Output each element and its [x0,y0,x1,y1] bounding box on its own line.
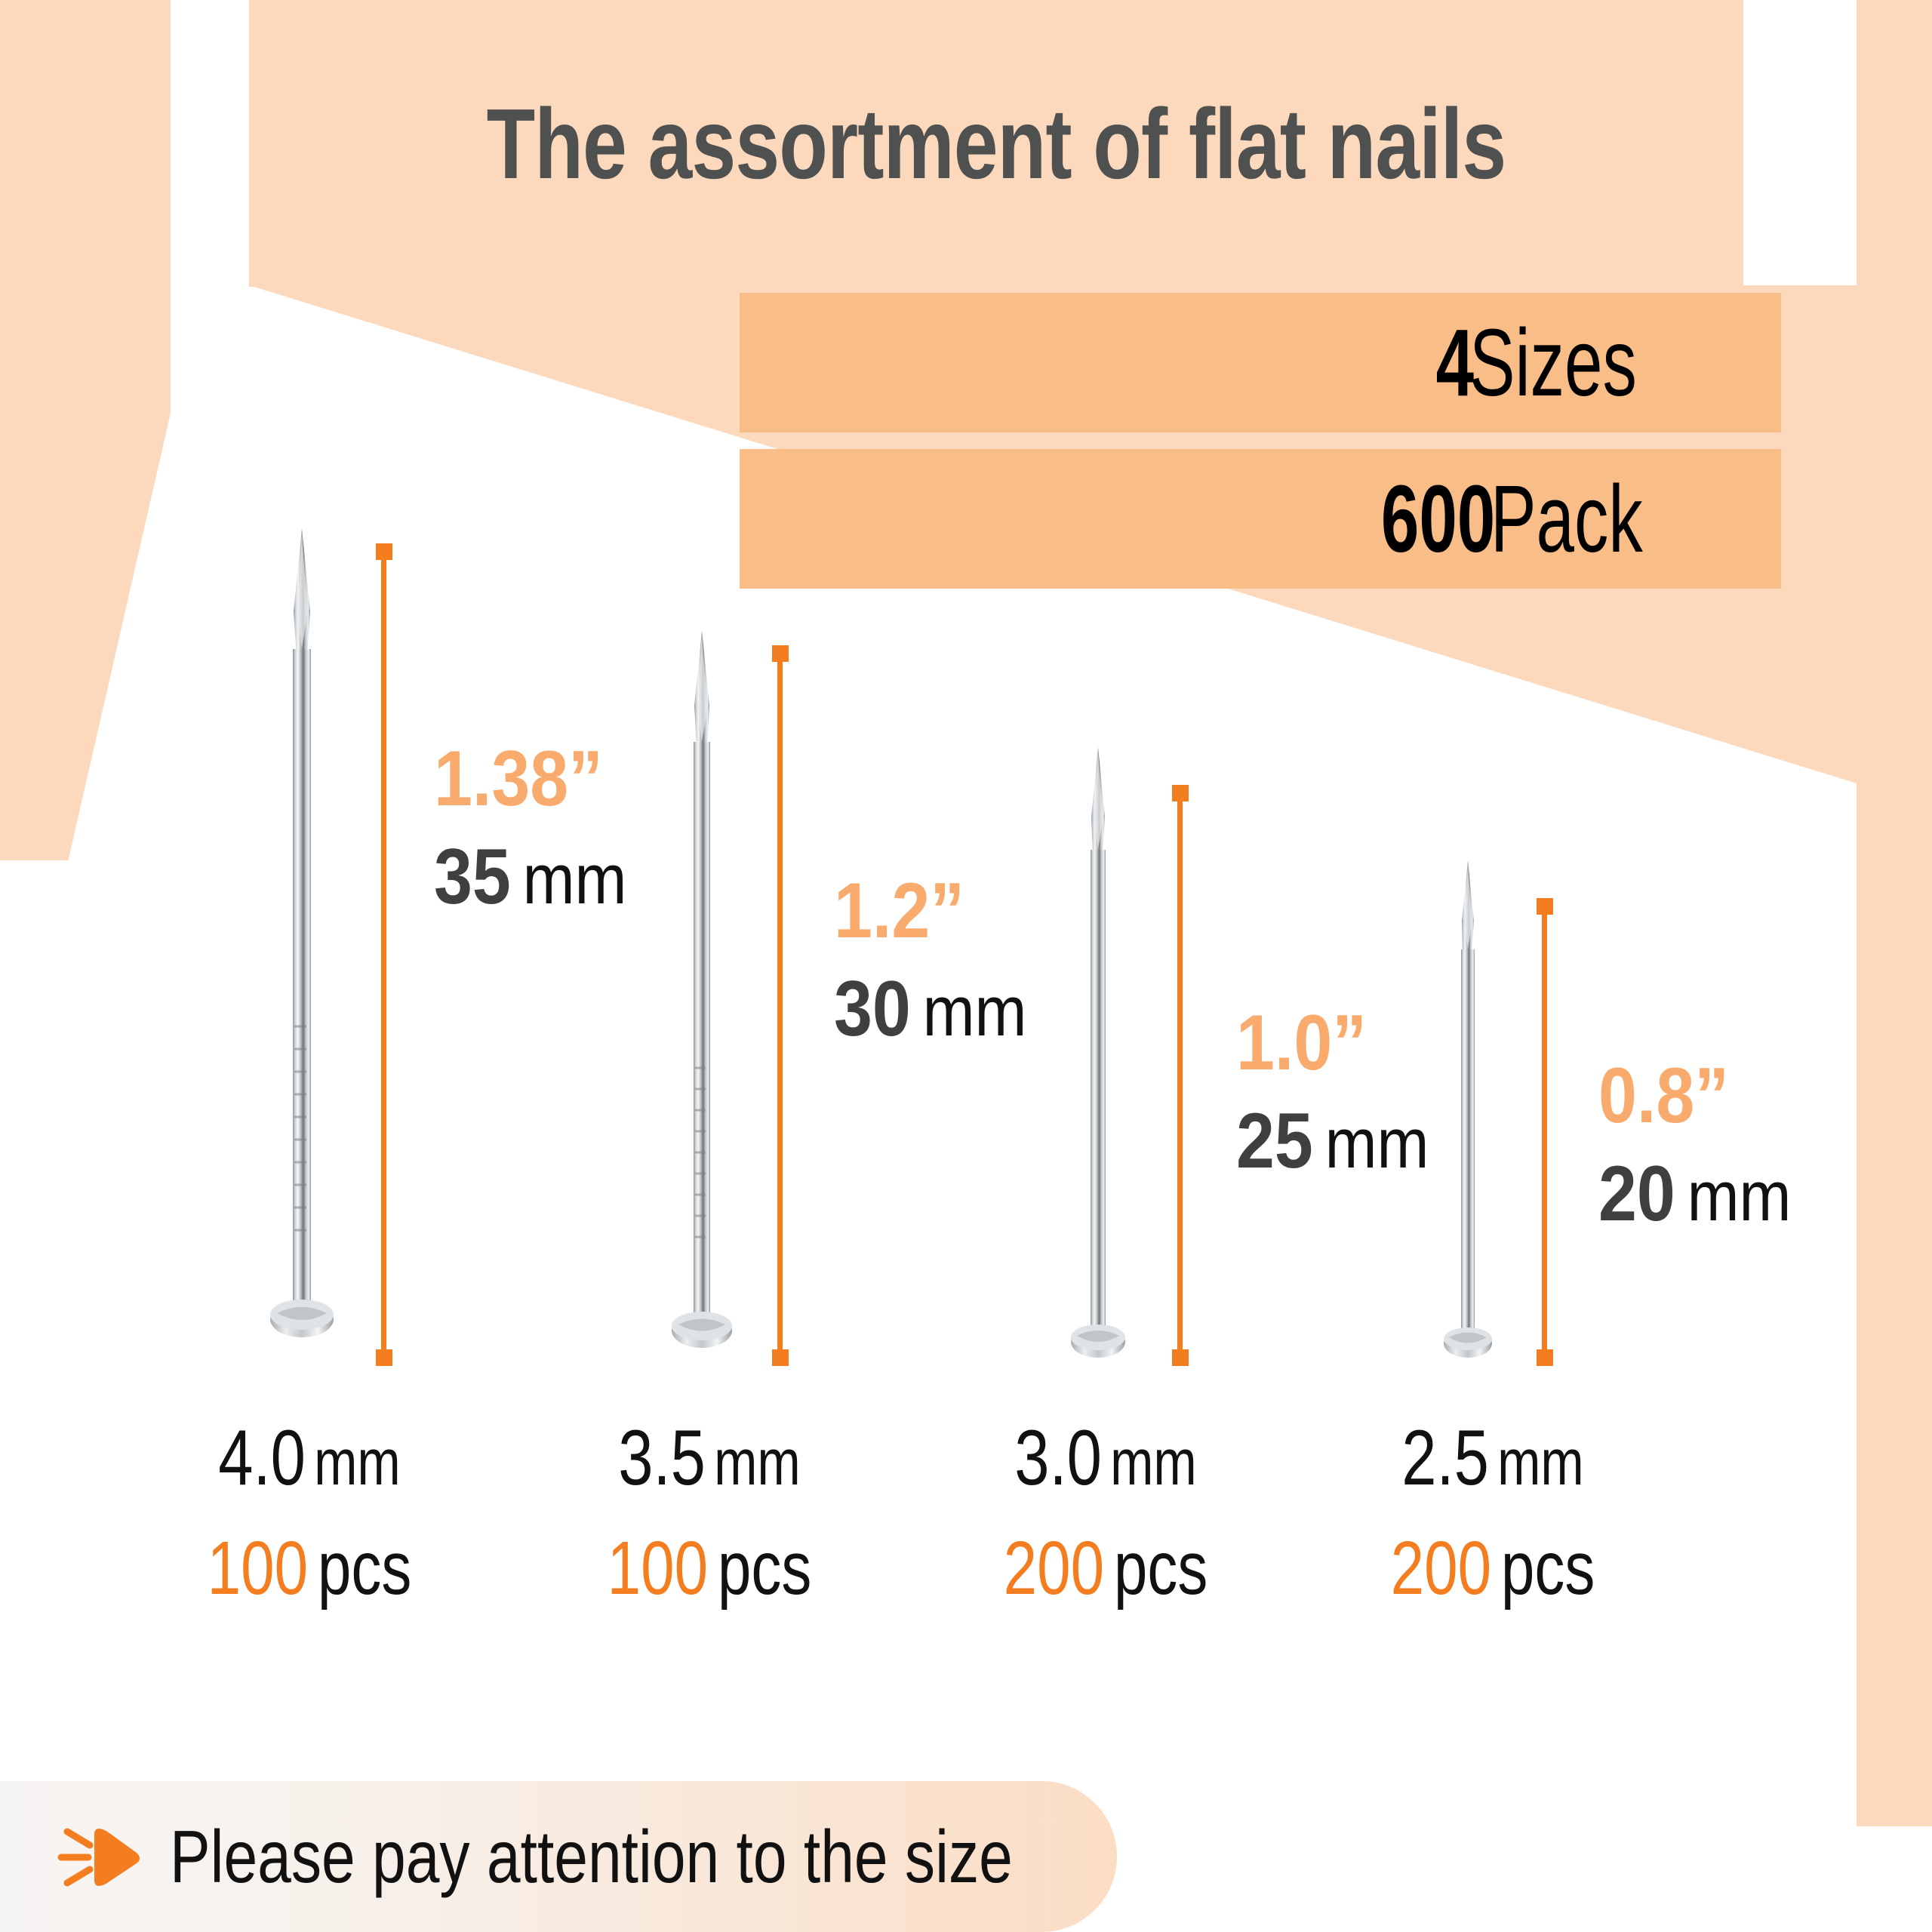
speaker-announce-icon [57,1815,147,1898]
quantity-3-5mm: 100pcs [552,1531,866,1606]
spec-3mm: 3.0mm 200pcs [909,1419,1302,1606]
sizes-badge-number: 4 [1435,308,1473,417]
gauge-3mm: 3.0mm [949,1419,1263,1497]
dimension-line-3mm [1177,785,1183,1366]
quantity-unit-2-5mm: pcs [1501,1526,1595,1611]
mm-value-3-5mm: 30 [834,965,911,1053]
nail-image-2-5mm [1442,860,1494,1358]
mm-unit-2-5mm: mm [1687,1156,1792,1235]
quantity-count-3mm: 200 [1004,1526,1104,1611]
pack-badge: 600 Pack [740,449,1781,589]
pack-badge-number: 600 [1381,464,1495,574]
spec-4mm: 4.0mm 100pcs [113,1419,506,1606]
gauge-value-3mm: 3.0 [1014,1414,1102,1502]
left-peach-band [0,0,171,860]
gauge-3-5mm: 3.5mm [552,1419,866,1497]
nail-image-3-5mm [670,630,734,1358]
spec-3-5mm: 3.5mm 100pcs [513,1419,906,1606]
quantity-count-2-5mm: 200 [1391,1526,1491,1611]
gauge-unit-2-5mm: mm [1497,1426,1584,1499]
mm-line-3mm: 25mm [1236,1102,1429,1180]
mm-value-3mm: 25 [1236,1097,1313,1185]
measurement-2-5mm: 0.8” 20mm [1598,1057,1817,1233]
quantity-4mm: 100pcs [152,1531,466,1606]
quantity-2-5mm: 200pcs [1336,1531,1650,1606]
gauge-4mm: 4.0mm [152,1419,466,1497]
spec-2-5mm: 2.5mm 200pcs [1297,1419,1689,1606]
gauge-unit-3mm: mm [1110,1426,1197,1499]
gauge-unit-3-5mm: mm [714,1426,801,1499]
nail-image-3mm [1069,747,1127,1358]
mm-line-4mm: 35mm [434,838,626,916]
mm-line-3-5mm: 30mm [834,970,1026,1048]
mm-value-4mm: 35 [434,833,511,921]
quantity-3mm: 200pcs [949,1531,1263,1606]
gauge-2-5mm: 2.5mm [1336,1419,1650,1497]
pack-badge-label: Pack [1491,464,1643,574]
inch-value-3-5mm: 1.2” [834,872,1026,950]
inch-value-4mm: 1.38” [434,740,626,818]
measurement-3-5mm: 1.2” 30mm [834,872,1053,1048]
mm-unit-4mm: mm [523,839,627,918]
measurement-3mm: 1.0” 25mm [1236,1004,1455,1180]
attention-banner-text: Please pay attention to the size [170,1814,1013,1900]
attention-banner: Please pay attention to the size [0,1781,1117,1932]
page-title: The assortment of flat nails [398,0,1594,287]
infographic-canvas: The assortment of flat nails 4 Sizes 600… [0,0,1932,1932]
inch-value-2-5mm: 0.8” [1598,1057,1791,1135]
quantity-unit-3mm: pcs [1114,1526,1208,1611]
mm-unit-3mm: mm [1325,1103,1429,1183]
gauge-value-3-5mm: 3.5 [618,1414,706,1502]
mm-unit-3-5mm: mm [923,971,1027,1051]
sizes-badge-label: Sizes [1469,308,1637,417]
inch-value-3mm: 1.0” [1236,1004,1429,1082]
dimension-line-3-5mm [777,645,783,1366]
measurement-4mm: 1.38” 35mm [434,740,653,916]
gauge-value-4mm: 4.0 [218,1414,306,1502]
right-peach-band [1857,0,1932,1826]
quantity-unit-4mm: pcs [318,1526,412,1611]
sizes-badge: 4 Sizes [740,293,1781,432]
quantity-count-4mm: 100 [208,1526,308,1611]
gauge-value-2-5mm: 2.5 [1401,1414,1489,1502]
quantity-unit-3-5mm: pcs [718,1526,811,1611]
mm-line-2-5mm: 20mm [1598,1155,1791,1233]
mm-value-2-5mm: 20 [1598,1150,1675,1238]
dimension-line-2-5mm [1542,898,1547,1366]
nail-image-4mm [268,528,336,1358]
quantity-count-3-5mm: 100 [608,1526,708,1611]
gauge-unit-4mm: mm [314,1426,401,1499]
dimension-line-4mm [381,543,386,1366]
